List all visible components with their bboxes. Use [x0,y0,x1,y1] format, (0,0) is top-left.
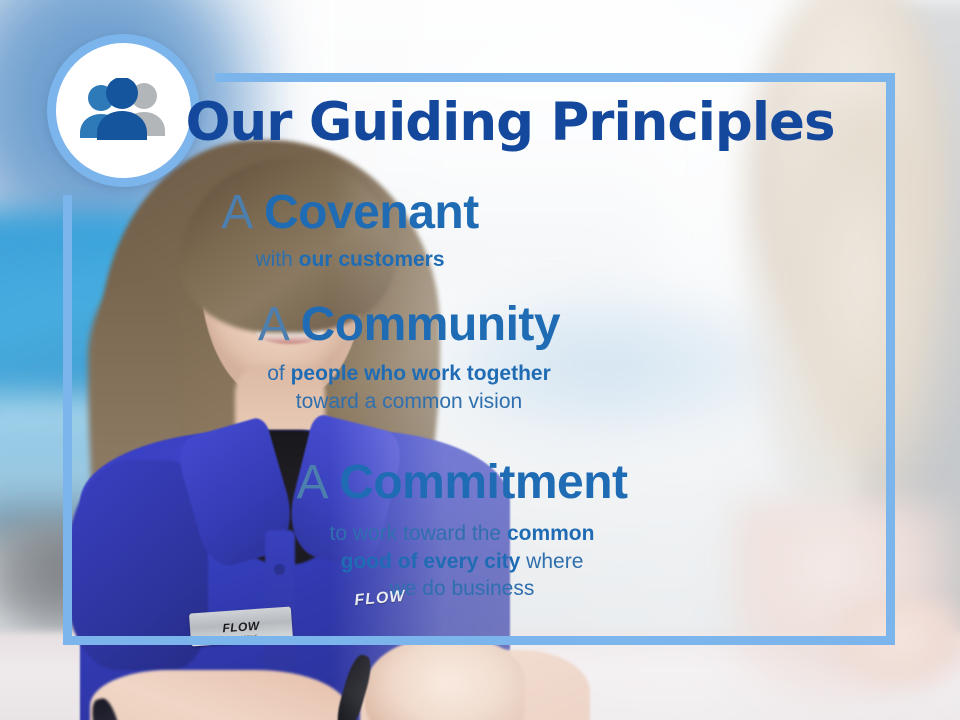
principle-commitment-word: Commitment [339,456,627,509]
community-sub-bold: people who work together [291,362,551,385]
principle-commitment-subtext: to work toward the common good of every … [0,520,924,603]
principle-community-heading: A Community [0,300,818,350]
covenant-sub-plain: with [255,248,298,271]
community-sub-line-1: of people who work together [0,360,818,388]
covenant-sub-bold: our customers [299,248,445,271]
principle-community-subtext: of people who work together toward a com… [0,360,818,415]
page-title: Our Guiding Principles [0,96,960,149]
principle-commitment-heading: A Commitment [0,458,924,508]
principle-covenant: A Covenant with our customers [0,188,700,274]
principle-covenant-article: A [221,186,250,239]
commitment-sub-line-2: good of every city where [0,548,924,576]
principle-community-word: Community [301,298,561,351]
commitment-sub-line-3: we do business [0,575,924,603]
community-sub-line-2: toward a common vision [0,388,818,416]
commitment-sub-plain-a: to work toward the [330,522,507,545]
principle-community-article: A [258,298,287,351]
commitment-sub-plain-b: where [520,550,583,573]
principle-covenant-subtext: with our customers [0,246,700,274]
commitment-sub-bold-a: common [507,522,595,545]
principle-covenant-word: Covenant [264,186,479,239]
community-sub-plain: of [267,362,290,385]
text-content: Our Guiding Principles A Covenant with o… [0,0,960,720]
principle-commitment: A Commitment to work toward the common g… [0,458,924,603]
commitment-sub-line-1: to work toward the common [0,520,924,548]
principle-community: A Community of people who work together … [0,300,818,415]
banner-stage: FLOW AUTOMOTIVE FLOW [0,0,960,720]
commitment-sub-bold-b: good of every city [341,550,521,573]
principle-covenant-heading: A Covenant [0,188,700,238]
principle-commitment-article: A [296,456,325,509]
